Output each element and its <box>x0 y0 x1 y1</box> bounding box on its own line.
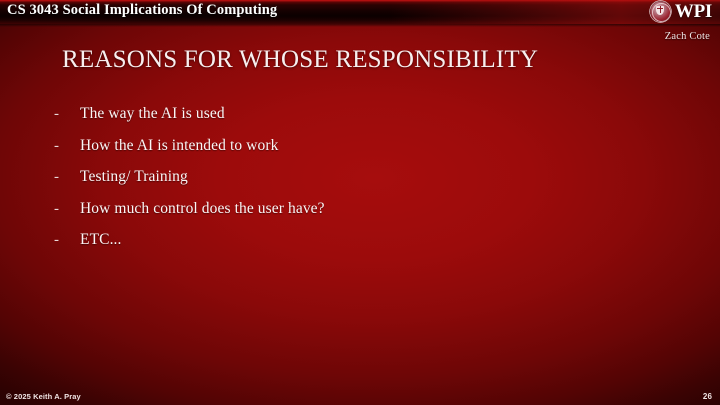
dash-bullet-icon: - <box>54 231 80 249</box>
list-item: - Testing/ Training <box>54 168 654 200</box>
bullet-text: How much control does the user have? <box>80 200 325 218</box>
presentation-slide: CS 3043 Social Implications Of Computing… <box>0 0 720 405</box>
wpi-wordmark: WPI <box>675 2 712 21</box>
bullet-text: Testing/ Training <box>80 168 188 186</box>
wpi-seal-icon <box>650 1 671 22</box>
bullet-text: How the AI is intended to work <box>80 137 278 155</box>
slide-number: 26 <box>703 392 712 401</box>
dash-bullet-icon: - <box>54 200 80 218</box>
bullet-list: - The way the AI is used - How the AI is… <box>54 105 654 263</box>
wpi-logo: WPI <box>650 1 712 22</box>
banner-shadow-divider <box>0 24 720 27</box>
author-name: Zach Cote <box>665 31 710 42</box>
slide-title: REASONS FOR WHOSE RESPONSIBILITY <box>62 45 662 75</box>
list-item: - The way the AI is used <box>54 105 654 137</box>
dash-bullet-icon: - <box>54 137 80 155</box>
slide-header-banner: CS 3043 Social Implications Of Computing <box>0 0 720 24</box>
course-title: CS 3043 Social Implications Of Computing <box>7 2 277 19</box>
dash-bullet-icon: - <box>54 168 80 186</box>
dash-bullet-icon: - <box>54 105 80 123</box>
list-item: - How much control does the user have? <box>54 200 654 232</box>
bullet-text: The way the AI is used <box>80 105 225 123</box>
bullet-text: ETC... <box>80 231 122 249</box>
copyright-notice: © 2025 Keith A. Pray <box>6 392 81 401</box>
list-item: - ETC... <box>54 231 654 263</box>
list-item: - How the AI is intended to work <box>54 137 654 169</box>
